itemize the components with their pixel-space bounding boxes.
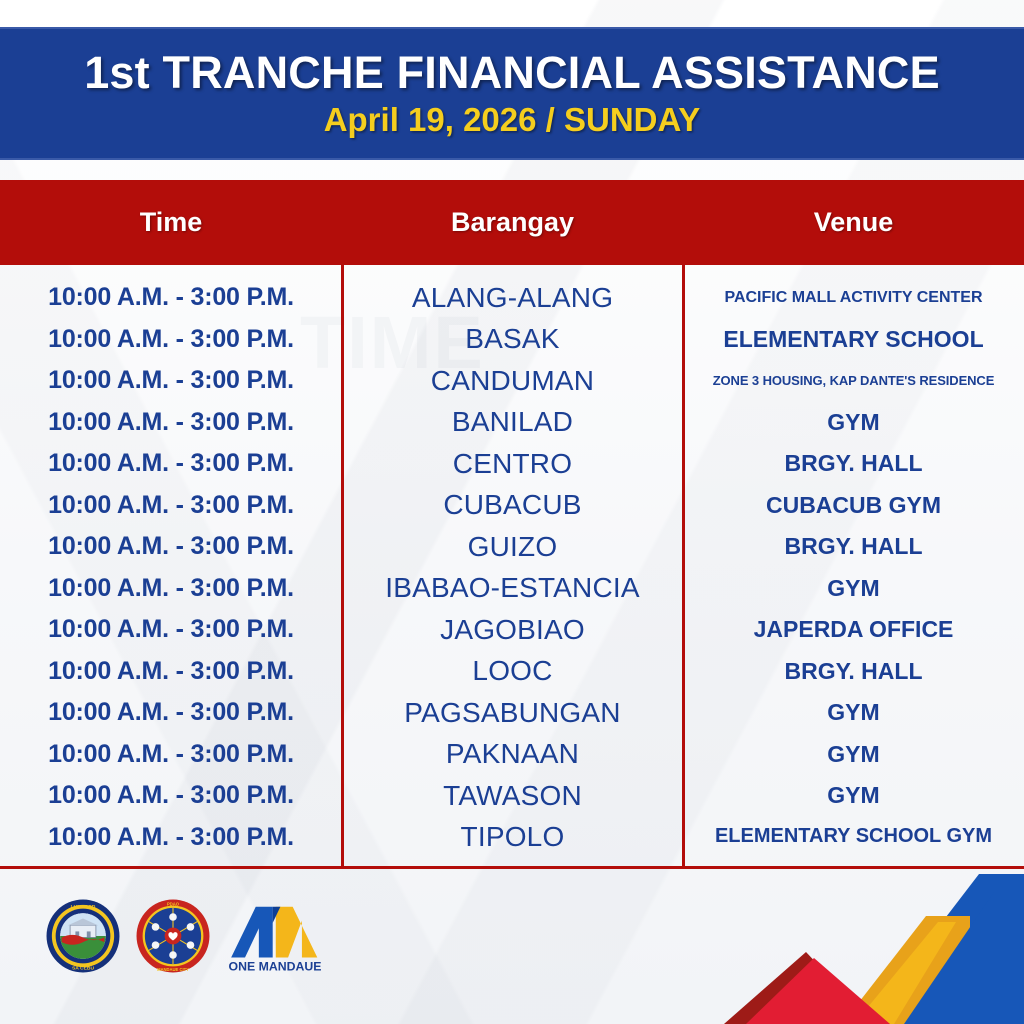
table-row: 10:00 A.M. - 3:00 P.M.ALANG-ALANGPACIFIC… [0,277,1024,319]
cell-time: 10:00 A.M. - 3:00 P.M. [0,491,342,520]
cell-venue: GYM [683,410,1024,435]
footer: LUNGSOD SA CEBU [0,869,1024,1024]
cell-venue: ZONE 3 HOUSING, KAP DANTE'S RESIDENCE [683,374,1024,388]
cell-time: 10:00 A.M. - 3:00 P.M. [0,657,342,686]
table-row: 10:00 A.M. - 3:00 P.M.IBABAO-ESTANCIAGYM [0,568,1024,610]
cell-barangay: CENTRO [342,448,683,480]
cell-barangay: CANDUMAN [342,365,683,397]
column-header-venue: Venue [683,207,1024,238]
one-mandaue-logo: ONE MANDAUE [225,897,325,975]
cell-time: 10:00 A.M. - 3:00 P.M. [0,283,342,312]
column-header-barangay: Barangay [342,207,683,238]
cell-venue: GYM [683,783,1024,808]
cell-time: 10:00 A.M. - 3:00 P.M. [0,615,342,644]
cell-venue: BRGY. HALL [683,451,1024,476]
table-row: 10:00 A.M. - 3:00 P.M.GUIZOBRGY. HALL [0,526,1024,568]
cell-barangay: PAKNAAN [342,738,683,770]
table-row: 10:00 A.M. - 3:00 P.M.CENTROBRGY. HALL [0,443,1024,485]
cell-barangay: PAGSABUNGAN [342,697,683,729]
cell-venue: BRGY. HALL [683,659,1024,684]
table-body: 10:00 A.M. - 3:00 P.M.ALANG-ALANGPACIFIC… [0,265,1024,868]
table-row: 10:00 A.M. - 3:00 P.M.PAGSABUNGANGYM [0,692,1024,734]
cell-time: 10:00 A.M. - 3:00 P.M. [0,449,342,478]
corner-decoration [694,874,1024,1024]
cell-venue: JAPERDA OFFICE [683,617,1024,642]
cell-venue: GYM [683,700,1024,725]
cell-time: 10:00 A.M. - 3:00 P.M. [0,325,342,354]
table-row: 10:00 A.M. - 3:00 P.M.CUBACUBCUBACUB GYM [0,485,1024,527]
cell-venue: GYM [683,576,1024,601]
svg-text:LUNGSOD: LUNGSOD [71,904,96,910]
poster-title: 1st TRANCHE FINANCIAL ASSISTANCE [84,49,940,96]
svg-text:MANDAUE CITY: MANDAUE CITY [157,967,189,972]
cell-venue: ELEMENTARY SCHOOL [683,327,1024,352]
cell-time: 10:00 A.M. - 3:00 P.M. [0,740,342,769]
column-header-time: Time [0,207,342,238]
table-header-row: Time Barangay Venue [0,180,1024,265]
svg-text:PDAO: PDAO [167,902,180,907]
cell-barangay: GUIZO [342,531,683,563]
cell-barangay: TAWASON [342,780,683,812]
cell-barangay: BASAK [342,323,683,355]
cell-barangay: IBABAO-ESTANCIA [342,572,683,604]
cell-barangay: LOOC [342,655,683,687]
table-row: 10:00 A.M. - 3:00 P.M.TIPOLOELEMENTARY S… [0,817,1024,859]
cell-time: 10:00 A.M. - 3:00 P.M. [0,574,342,603]
cell-barangay: ALANG-ALANG [342,282,683,314]
cell-time: 10:00 A.M. - 3:00 P.M. [0,823,342,852]
cell-venue: GYM [683,742,1024,767]
logo-group: LUNGSOD SA CEBU [45,897,325,975]
cell-time: 10:00 A.M. - 3:00 P.M. [0,781,342,810]
cell-venue: CUBACUB GYM [683,493,1024,518]
pdao-mandaue-seal: PDAO MANDAUE CITY [135,898,211,974]
schedule-rows: 10:00 A.M. - 3:00 P.M.ALANG-ALANGPACIFIC… [0,265,1024,858]
table-row: 10:00 A.M. - 3:00 P.M.CANDUMANZONE 3 HOU… [0,360,1024,402]
header-banner: 1st TRANCHE FINANCIAL ASSISTANCE April 1… [0,27,1024,160]
table-row: 10:00 A.M. - 3:00 P.M.BASAKELEMENTARY SC… [0,319,1024,361]
table-row: 10:00 A.M. - 3:00 P.M.TAWASONGYM [0,775,1024,817]
cell-time: 10:00 A.M. - 3:00 P.M. [0,408,342,437]
one-mandaue-label: ONE MANDAUE [229,960,322,974]
cell-venue: BRGY. HALL [683,534,1024,559]
cell-time: 10:00 A.M. - 3:00 P.M. [0,532,342,561]
table-row: 10:00 A.M. - 3:00 P.M.JAGOBIAOJAPERDA OF… [0,609,1024,651]
cell-venue: PACIFIC MALL ACTIVITY CENTER [683,289,1024,306]
cell-venue: ELEMENTARY SCHOOL GYM [683,826,1024,848]
poster-date: April 19, 2026 / SUNDAY [324,103,701,138]
svg-text:SA CEBU: SA CEBU [72,965,94,971]
cell-barangay: CUBACUB [342,489,683,521]
lungsod-ng-mandaue-seal: LUNGSOD SA CEBU [45,898,121,974]
cell-barangay: JAGOBIAO [342,614,683,646]
table-row: 10:00 A.M. - 3:00 P.M.BANILADGYM [0,402,1024,444]
poster: TIME 1st TRANCHE FINANCIAL ASSISTANCE Ap… [0,0,1024,1024]
cell-time: 10:00 A.M. - 3:00 P.M. [0,698,342,727]
table-row: 10:00 A.M. - 3:00 P.M.LOOCBRGY. HALL [0,651,1024,693]
cell-time: 10:00 A.M. - 3:00 P.M. [0,366,342,395]
table-row: 10:00 A.M. - 3:00 P.M.PAKNAANGYM [0,734,1024,776]
cell-barangay: TIPOLO [342,821,683,853]
cell-barangay: BANILAD [342,406,683,438]
